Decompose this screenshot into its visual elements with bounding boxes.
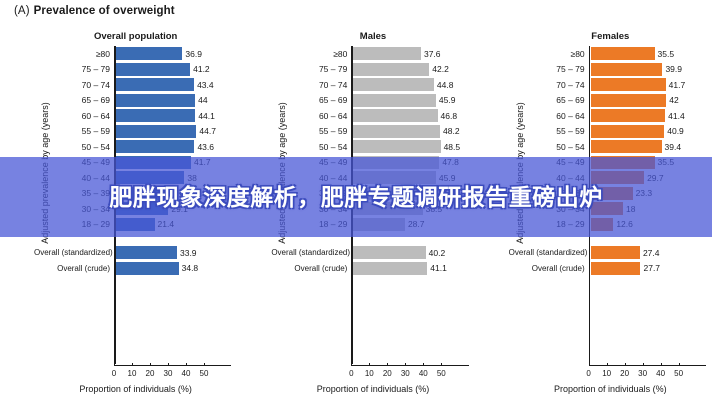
- bar-wrapper: 41.4: [591, 108, 706, 124]
- bar: [353, 125, 440, 138]
- table-row: 70 – 7444.8: [271, 77, 468, 93]
- bar-wrapper: 37.6: [353, 46, 468, 62]
- x-tick-label: 30: [164, 369, 173, 378]
- table-row: Overall (standardized)33.9: [34, 245, 231, 261]
- bar-value-label: 36.9: [182, 49, 202, 59]
- panel-tag: (A): [14, 5, 30, 17]
- bar: [116, 78, 194, 91]
- bar-value-label: 44.1: [195, 111, 215, 121]
- x-tick-label: 10: [602, 369, 611, 378]
- bar-wrapper: 44: [116, 93, 231, 109]
- bar-value-label: 27.4: [640, 248, 660, 258]
- bar: [591, 78, 666, 91]
- bar-value-label: 42.2: [429, 64, 449, 74]
- bar: [591, 262, 641, 275]
- bar-value-label: 27.7: [640, 263, 660, 273]
- x-tick-mark: [186, 363, 187, 366]
- bar-wrapper: 27.4: [591, 245, 706, 261]
- bar: [353, 140, 440, 153]
- bar: [353, 78, 434, 91]
- table-row: 55 – 5948.2: [271, 124, 468, 140]
- bar-value-label: 41.1: [427, 263, 447, 273]
- bar-value-label: 46.8: [438, 111, 458, 121]
- x-tick-label: 0: [112, 369, 116, 378]
- category-label: 55 – 59: [509, 126, 589, 136]
- category-label: 70 – 74: [271, 80, 351, 90]
- x-tick-mark: [132, 363, 133, 366]
- category-label: 75 – 79: [271, 64, 351, 74]
- table-row: 50 – 5443.6: [34, 139, 231, 155]
- category-label: 50 – 54: [271, 142, 351, 152]
- bar: [591, 140, 662, 153]
- table-row: ≥8037.6: [271, 46, 468, 62]
- bar-value-label: 33.9: [177, 248, 197, 258]
- category-label: ≥80: [34, 49, 114, 59]
- x-axis-ticks: 01020304050: [589, 366, 706, 378]
- table-row: 75 – 7939.9: [509, 62, 706, 78]
- chart-title: Overall population: [0, 31, 237, 42]
- x-tick-label: 30: [638, 369, 647, 378]
- bar-value-label: 34.8: [179, 263, 199, 273]
- promo-banner-text: 肥胖现象深度解析，肥胖专题调研报告重磅出炉: [0, 157, 712, 237]
- bar-value-label: 35.5: [655, 49, 675, 59]
- table-row: 60 – 6446.8: [271, 108, 468, 124]
- x-tick-mark: [387, 363, 388, 366]
- bar-value-label: 43.6: [194, 142, 214, 152]
- bar-value-label: 44.7: [196, 126, 216, 136]
- bar: [591, 246, 640, 259]
- category-label: 65 – 69: [34, 95, 114, 105]
- bar-wrapper: 36.9: [116, 46, 231, 62]
- bar: [116, 140, 194, 153]
- bar-wrapper: 44.8: [353, 77, 468, 93]
- x-tick-label: 40: [182, 369, 191, 378]
- x-tick-label: 20: [383, 369, 392, 378]
- chart-title: Males: [237, 31, 474, 42]
- x-tick-mark: [150, 363, 151, 366]
- bar: [591, 125, 665, 138]
- chart-title: Females: [475, 31, 712, 42]
- x-tick-label: 50: [674, 369, 683, 378]
- table-row: Overall (crude)41.1: [271, 261, 468, 277]
- bar-wrapper: 33.9: [116, 245, 231, 261]
- bar: [591, 109, 665, 122]
- x-tick-label: 10: [365, 369, 374, 378]
- category-label: Overall (crude): [271, 264, 351, 273]
- category-label: 60 – 64: [271, 111, 351, 121]
- bar-wrapper: 34.8: [116, 261, 231, 277]
- bar-wrapper: 42: [591, 93, 706, 109]
- x-axis-label: Proportion of individuals (%): [509, 384, 712, 394]
- bar: [116, 47, 182, 60]
- bar-value-label: 44: [195, 95, 207, 105]
- category-label: 50 – 54: [509, 142, 589, 152]
- table-row: Overall (standardized)27.4: [509, 245, 706, 261]
- bar: [353, 246, 425, 259]
- bar: [116, 262, 179, 275]
- table-row: 60 – 6444.1: [34, 108, 231, 124]
- category-label: 60 – 64: [34, 111, 114, 121]
- bar-value-label: 45.9: [436, 95, 456, 105]
- table-row: Overall (crude)27.7: [509, 261, 706, 277]
- category-label: 75 – 79: [509, 64, 589, 74]
- bar-wrapper: 40.2: [353, 245, 468, 261]
- bar-wrapper: 27.7: [591, 261, 706, 277]
- x-tick-label: 20: [620, 369, 629, 378]
- category-label: Overall (crude): [34, 264, 114, 273]
- bar-value-label: 40.9: [664, 126, 684, 136]
- page-title: (A)Prevalence of overweight: [14, 5, 175, 17]
- x-axis-ticks: 01020304050: [114, 366, 231, 378]
- bar-value-label: 41.7: [666, 80, 686, 90]
- category-label: Overall (crude): [509, 264, 589, 273]
- bar-wrapper: 44.1: [116, 108, 231, 124]
- bar-wrapper: 35.5: [591, 46, 706, 62]
- bar-wrapper: 48.2: [353, 124, 468, 140]
- bar-wrapper: 48.5: [353, 139, 468, 155]
- x-tick-label: 0: [349, 369, 353, 378]
- bar-value-label: 40.2: [426, 248, 446, 258]
- table-row: 60 – 6441.4: [509, 108, 706, 124]
- category-label: Overall (standardized): [509, 248, 589, 257]
- panel-title-text: Prevalence of overweight: [34, 5, 175, 17]
- bar-value-label: 43.4: [194, 80, 214, 90]
- x-tick-mark: [607, 363, 608, 366]
- x-tick-label: 30: [401, 369, 410, 378]
- bar: [116, 125, 196, 138]
- x-tick-label: 40: [656, 369, 665, 378]
- table-row: 65 – 6945.9: [271, 93, 468, 109]
- table-row: 70 – 7441.7: [509, 77, 706, 93]
- bar: [116, 63, 190, 76]
- table-row: 55 – 5940.9: [509, 124, 706, 140]
- bar-value-label: 44.8: [434, 80, 454, 90]
- bar-wrapper: 40.9: [591, 124, 706, 140]
- table-row: 75 – 7942.2: [271, 62, 468, 78]
- table-row: Overall (crude)34.8: [34, 261, 231, 277]
- category-label: ≥80: [509, 49, 589, 59]
- category-label: 60 – 64: [509, 111, 589, 121]
- table-row: 75 – 7941.2: [34, 62, 231, 78]
- bar-value-label: 39.4: [662, 142, 682, 152]
- x-tick-mark: [423, 363, 424, 366]
- x-tick-mark: [441, 363, 442, 366]
- x-tick-label: 40: [419, 369, 428, 378]
- bar-value-label: 37.6: [421, 49, 441, 59]
- bar-wrapper: 39.9: [591, 62, 706, 78]
- x-axis-label: Proportion of individuals (%): [271, 384, 474, 394]
- bar-wrapper: 41.2: [116, 62, 231, 78]
- x-tick-mark: [168, 363, 169, 366]
- bar: [591, 94, 667, 107]
- x-tick-mark: [589, 363, 590, 366]
- bar-value-label: 41.2: [190, 64, 210, 74]
- bar-wrapper: 39.4: [591, 139, 706, 155]
- bar-wrapper: 46.8: [353, 108, 468, 124]
- x-tick-label: 10: [128, 369, 137, 378]
- bar: [591, 47, 655, 60]
- bar-wrapper: 44.7: [116, 124, 231, 140]
- category-label: 70 – 74: [509, 80, 589, 90]
- table-row: ≥8035.5: [509, 46, 706, 62]
- bar-wrapper: 45.9: [353, 93, 468, 109]
- x-tick-label: 50: [437, 369, 446, 378]
- category-label: 75 – 79: [34, 64, 114, 74]
- x-tick-mark: [351, 363, 352, 366]
- bar-value-label: 48.5: [441, 142, 461, 152]
- table-row: 70 – 7443.4: [34, 77, 231, 93]
- bar: [116, 246, 177, 259]
- bar: [591, 63, 663, 76]
- bar: [116, 109, 195, 122]
- x-tick-label: 0: [586, 369, 590, 378]
- bar-value-label: 39.9: [662, 64, 682, 74]
- table-row: 55 – 5944.7: [34, 124, 231, 140]
- x-tick-mark: [679, 363, 680, 366]
- x-axis-ticks: 01020304050: [351, 366, 468, 378]
- bar: [116, 94, 195, 107]
- bar-wrapper: 42.2: [353, 62, 468, 78]
- category-label: 55 – 59: [34, 126, 114, 136]
- bar-wrapper: 43.4: [116, 77, 231, 93]
- x-tick-mark: [114, 363, 115, 366]
- bar: [353, 63, 429, 76]
- bar-wrapper: 41.7: [591, 77, 706, 93]
- bar: [353, 47, 421, 60]
- x-tick-mark: [643, 363, 644, 366]
- x-tick-mark: [661, 363, 662, 366]
- category-label: Overall (standardized): [271, 248, 351, 257]
- table-row: 50 – 5448.5: [271, 139, 468, 155]
- bar-value-label: 42: [666, 95, 678, 105]
- category-label: 65 – 69: [271, 95, 351, 105]
- category-label: 55 – 59: [271, 126, 351, 136]
- table-row: 50 – 5439.4: [509, 139, 706, 155]
- x-tick-mark: [204, 363, 205, 366]
- table-row: 65 – 6944: [34, 93, 231, 109]
- table-row: 65 – 6942: [509, 93, 706, 109]
- bar: [353, 94, 436, 107]
- bar-wrapper: 43.6: [116, 139, 231, 155]
- bar: [353, 109, 437, 122]
- table-row: ≥8036.9: [34, 46, 231, 62]
- x-tick-mark: [405, 363, 406, 366]
- x-tick-label: 20: [146, 369, 155, 378]
- category-label: 50 – 54: [34, 142, 114, 152]
- table-row: Overall (standardized)40.2: [271, 245, 468, 261]
- bar-wrapper: 41.1: [353, 261, 468, 277]
- category-label: 70 – 74: [34, 80, 114, 90]
- bar: [353, 262, 427, 275]
- x-axis-label: Proportion of individuals (%): [34, 384, 237, 394]
- x-tick-mark: [369, 363, 370, 366]
- category-label: Overall (standardized): [34, 248, 114, 257]
- bar-value-label: 41.4: [665, 111, 685, 121]
- x-tick-mark: [625, 363, 626, 366]
- category-label: 65 – 69: [509, 95, 589, 105]
- x-tick-label: 50: [200, 369, 209, 378]
- category-label: ≥80: [271, 49, 351, 59]
- bar-value-label: 48.2: [440, 126, 460, 136]
